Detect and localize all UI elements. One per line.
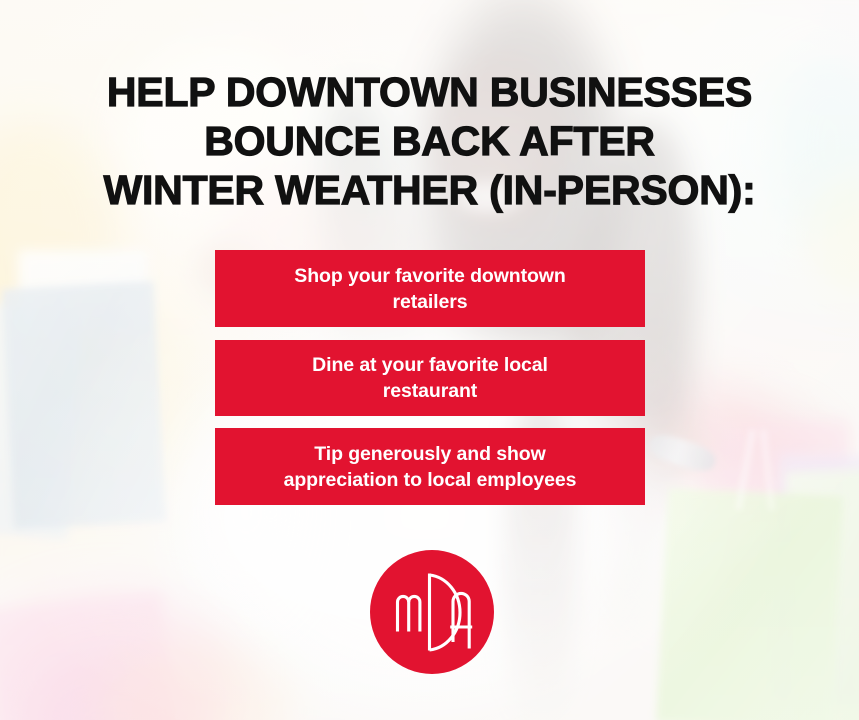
callout-2-line-2: restaurant [312, 378, 548, 404]
callout-1-line-2: retailers [294, 289, 565, 315]
callout-3-line-1: Tip generously and show [284, 441, 577, 467]
callout-item-dine-local: Dine at your favorite local restaurant [215, 340, 645, 416]
poster-content: HELP DOWNTOWN BUSINESSES BOUNCE BACK AFT… [0, 0, 859, 720]
callout-1-line-1: Shop your favorite downtown [294, 263, 565, 289]
promo-poster: HELP DOWNTOWN BUSINESSES BOUNCE BACK AFT… [0, 0, 859, 720]
page-title: HELP DOWNTOWN BUSINESSES BOUNCE BACK AFT… [0, 68, 859, 215]
headline-line-2: BOUNCE BACK AFTER [0, 117, 859, 166]
callout-item-tip-generously: Tip generously and show appreciation to … [215, 428, 645, 505]
mda-logo [370, 550, 494, 674]
callout-item-shop-retailers: Shop your favorite downtown retailers [215, 250, 645, 327]
logo-circle [370, 550, 494, 674]
headline-line-1: HELP DOWNTOWN BUSINESSES [0, 68, 859, 117]
headline-line-3: WINTER WEATHER (IN-PERSON): [0, 166, 859, 215]
callout-3-line-2: appreciation to local employees [284, 467, 577, 493]
callout-2-line-1: Dine at your favorite local [312, 352, 548, 378]
mda-logo-svg [370, 550, 494, 674]
callout-list: Shop your favorite downtown retailers Di… [215, 250, 645, 505]
